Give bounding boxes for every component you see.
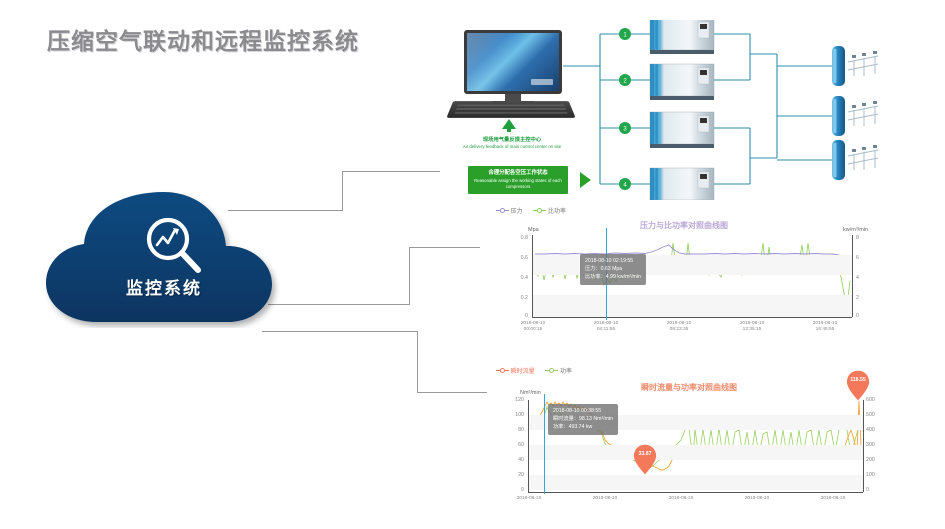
chart2-ytick-right-4: 200 [866, 457, 886, 463]
chart2-max-marker-value: 118.55 [846, 377, 870, 383]
assign-status-box: 合理分配各空压工作状态 Reasonable assign the workin… [468, 166, 568, 194]
connector-line-middle [268, 247, 480, 305]
chart1-tooltip-line1: 压力：0.63 Mpa [585, 265, 641, 273]
chart2-xtick-3-date: 2018-08-10 [730, 496, 784, 502]
chart2-xtick-4-date: 2018-08-10 [806, 496, 860, 502]
chart1-ytick-left-2: 0.4 [508, 275, 528, 281]
chart1-xtick-0-time: 00:00:15 [506, 327, 560, 333]
chart1-y-right-unit: kw/m³/min [843, 227, 868, 233]
legend-label-pressure: 压力 [511, 209, 523, 215]
legend-marker-pressure [496, 208, 509, 214]
chart1-xtick-3: 2018-08-10 12:35:15 [725, 321, 779, 333]
chart1-xtick-0: 2018-08-10 00:00:15 [506, 321, 560, 333]
chart1-legend[interactable]: 压力 比功率 [496, 206, 575, 215]
control-center-monitor [464, 30, 562, 102]
legend-label-specific-power: 比功率 [548, 209, 566, 215]
chart2-max-marker[interactable]: 118.55 [846, 370, 870, 401]
chart1-ytick-right-1: 6 [856, 255, 874, 261]
chart1-xtick-3-time: 12:35:15 [725, 327, 779, 333]
legend-label-instant-flow: 瞬时流量 [511, 369, 535, 375]
legend-item-pressure[interactable]: 压力 [496, 206, 523, 215]
up-arrow-stem-icon [507, 128, 511, 132]
screen-logo [531, 79, 553, 85]
chart2-ytick-left-5: 20 [502, 472, 524, 478]
chart1-ytick-left-3: 0.2 [508, 295, 528, 301]
chart1-xtick-2: 2018-08-10 08:23:35 [652, 321, 706, 333]
chart1-ytick-right-0: 8 [856, 235, 874, 241]
chart1-ytick-left-1: 0.6 [508, 255, 528, 261]
legend-marker-specific-power [533, 208, 546, 214]
chart2-cursor-line[interactable] [544, 394, 545, 494]
chart2-title: 瞬时流量与功率对照曲线图 [584, 382, 794, 393]
chart2-xtick-4: 2018-08-10 [806, 496, 860, 502]
legend-label-power: 功率 [560, 369, 572, 375]
chart1-title: 压力与比功率对照曲线图 [584, 220, 784, 231]
chart2-min-marker-value: 33.87 [633, 451, 657, 457]
chart1-xtick-1: 2018-08-10 04:11:55 [579, 321, 633, 333]
chart2-ytick-left-2: 80 [502, 427, 524, 433]
chart1-y2-axis [852, 235, 853, 317]
chart2-ytick-left-6: 0 [502, 487, 524, 493]
chart2-ytick-right-6: 0 [866, 487, 886, 493]
chart1-y-left-unit: Mpa [528, 227, 539, 233]
chart1-xtick-1-time: 04:11:55 [579, 327, 633, 333]
chart2-xtick-1: 2018-08-10 [578, 496, 632, 502]
chart1-xtick-4-time: 16:46:55 [798, 327, 852, 333]
chart2-ytick-right-2: 400 [866, 427, 886, 433]
legend-item-instant-flow[interactable]: 瞬时流量 [496, 366, 535, 375]
monitor-caption-en: Air delivery feedback of main control ce… [450, 144, 574, 150]
chart2-xtick-3: 2018-08-10 [730, 496, 784, 502]
chart1-ytick-left-4: 0 [508, 313, 528, 319]
right-arrow-icon [580, 172, 591, 188]
chart1-x-axis [532, 317, 852, 318]
panel-flow-chart: 瞬时流量 功率 瞬时流量与功率对照曲线图 Nm³/min 120 100 80 … [488, 362, 888, 529]
chart2-xtick-0-date: 2018-08-10 [502, 496, 556, 502]
chart2-xtick-0: 2018-08-10 [502, 496, 556, 502]
chart1-ytick-right-4: 0 [856, 313, 874, 319]
panel-network-diagram: 1 2 3 4 [432, 20, 932, 200]
chart2-ytick-right-3: 300 [866, 442, 886, 448]
chart1-xtick-4: 2018-08-10 16:46:55 [798, 321, 852, 333]
chart2-tooltip-line1: 瞬时流量：98.13 Nm³/min [553, 415, 613, 423]
map-pin-icon [846, 370, 870, 401]
chart1-tooltip-line2: 比功率：4.99 kw/m³/min [585, 273, 641, 281]
chart2-xtick-1-date: 2018-08-10 [578, 496, 632, 502]
page-title: 压缩空气联动和远程监控系统 [47, 22, 359, 56]
magnifier-chart-icon [142, 214, 206, 278]
monitor-caption-cn: 现场用气量反馈主控中心 [450, 136, 574, 144]
chart2-legend[interactable]: 瞬时流量 功率 [496, 366, 581, 375]
cloud-label: 监控系统 [38, 274, 290, 299]
chart2-ytick-left-3: 60 [502, 442, 524, 448]
legend-marker-instant-flow [496, 368, 509, 374]
connector-line-bottom [262, 331, 487, 393]
chart1-tooltip-timestamp: 2018-08-10 02:19:55 [585, 257, 641, 265]
keyboard [446, 101, 575, 118]
chart2-min-marker[interactable]: 33.87 [633, 444, 657, 475]
assign-status-cn: 合理分配各空压工作状态 [468, 169, 568, 177]
chart2-y2-axis [863, 400, 864, 492]
monitor-screen [464, 30, 562, 94]
chart2-ytick-right-5: 100 [866, 472, 886, 478]
chart2-ytick-right-1: 500 [866, 412, 886, 418]
panel-pressure-chart: 压力 比功率 压力与比功率对照曲线图 Mpa kw/m³/min 0.8 0.6… [488, 202, 880, 334]
chart2-ytick-left-0: 120 [502, 397, 524, 403]
chart1-ytick-right-3: 2 [856, 295, 874, 301]
chart2-x-axis [528, 492, 863, 493]
chart1-tooltip: 2018-08-10 02:19:55 压力：0.63 Mpa 比功率：4.99… [580, 254, 646, 285]
chart2-tooltip-timestamp: 2018-08-10 00:38:55 [553, 407, 613, 415]
chart1-xtick-2-time: 08:23:35 [652, 327, 706, 333]
chart2-ytick-left-4: 40 [502, 457, 524, 463]
chart2-y-left-unit: Nm³/min [520, 390, 541, 396]
slide-canvas: 压缩空气联动和远程监控系统 [0, 0, 945, 529]
legend-item-specific-power[interactable]: 比功率 [533, 206, 566, 215]
legend-item-power[interactable]: 功率 [545, 366, 572, 375]
chart1-ytick-right-2: 4 [856, 275, 874, 281]
map-pin-icon [633, 444, 657, 475]
chart1-ytick-left-0: 0.8 [508, 235, 528, 241]
chart2-xtick-2-date: 2018-08-10 [654, 496, 708, 502]
legend-marker-power [545, 368, 558, 374]
chart2-tooltip: 2018-08-10 00:38:55 瞬时流量：98.13 Nm³/min 功… [548, 404, 618, 435]
chart2-tooltip-line2: 功率：493.74 kw [553, 423, 613, 431]
monitoring-cloud[interactable]: 监控系统 [38, 186, 290, 328]
chart2-xtick-2: 2018-08-10 [654, 496, 708, 502]
assign-status-en: Reasonable assign the working states of … [468, 178, 568, 190]
chart2-ytick-left-1: 100 [502, 412, 524, 418]
